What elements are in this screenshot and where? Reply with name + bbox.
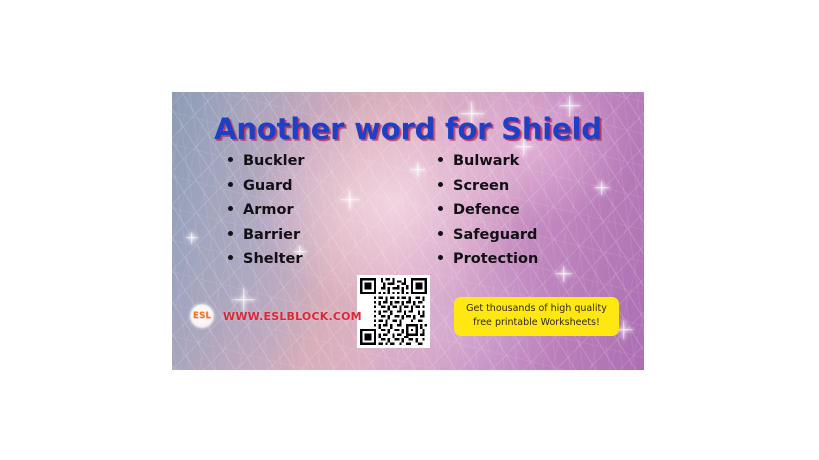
page-title: Another word for Shield: [172, 112, 644, 146]
site-url[interactable]: WWW.ESLBLOCK.COM: [223, 310, 362, 323]
list-item: Shelter: [228, 252, 378, 267]
synonym-label: Bulwark: [453, 154, 519, 169]
bullet-icon: [438, 157, 443, 162]
synonym-label: Armor: [243, 203, 294, 218]
synonym-column-right: Bulwark Screen Defence Safeguard Protect…: [438, 154, 588, 277]
esl-logo-label: ESL: [193, 311, 211, 321]
list-item: Armor: [228, 203, 378, 218]
synonym-label: Defence: [453, 203, 520, 218]
bullet-icon: [438, 255, 443, 260]
bullet-icon: [228, 231, 233, 236]
bullet-icon: [438, 231, 443, 236]
list-item: Barrier: [228, 228, 378, 243]
bullet-icon: [438, 182, 443, 187]
bullet-icon: [228, 182, 233, 187]
synonym-label: Screen: [453, 179, 509, 194]
list-item: Screen: [438, 179, 588, 194]
list-item: Defence: [438, 203, 588, 218]
bullet-icon: [228, 255, 233, 260]
list-item: Safeguard: [438, 228, 588, 243]
bullet-icon: [438, 206, 443, 211]
synonym-label: Protection: [453, 252, 538, 267]
list-item: Guard: [228, 179, 378, 194]
synonym-label: Buckler: [243, 154, 305, 169]
synonym-column-left: Buckler Guard Armor Barrier Shelter: [228, 154, 378, 277]
synonym-label: Barrier: [243, 228, 300, 243]
bullet-icon: [228, 206, 233, 211]
synonym-label: Guard: [243, 179, 293, 194]
synonym-label: Shelter: [243, 252, 303, 267]
promo-line-2: printable Worksheets!: [495, 317, 600, 328]
synonym-label: Safeguard: [453, 228, 537, 243]
promo-callout: Get thousands of high quality free print…: [454, 297, 619, 336]
poster-image: Another word for Shield Buckler Guard Ar…: [172, 92, 644, 370]
list-item: Protection: [438, 252, 588, 267]
list-item: Bulwark: [438, 154, 588, 169]
esl-logo-icon: ESL: [190, 304, 214, 328]
synonym-columns: Buckler Guard Armor Barrier Shelter: [172, 154, 644, 277]
brand-row: ESL WWW.ESLBLOCK.COM: [190, 304, 362, 328]
list-item: Buckler: [228, 154, 378, 169]
qr-code[interactable]: [357, 275, 430, 348]
bullet-icon: [228, 157, 233, 162]
